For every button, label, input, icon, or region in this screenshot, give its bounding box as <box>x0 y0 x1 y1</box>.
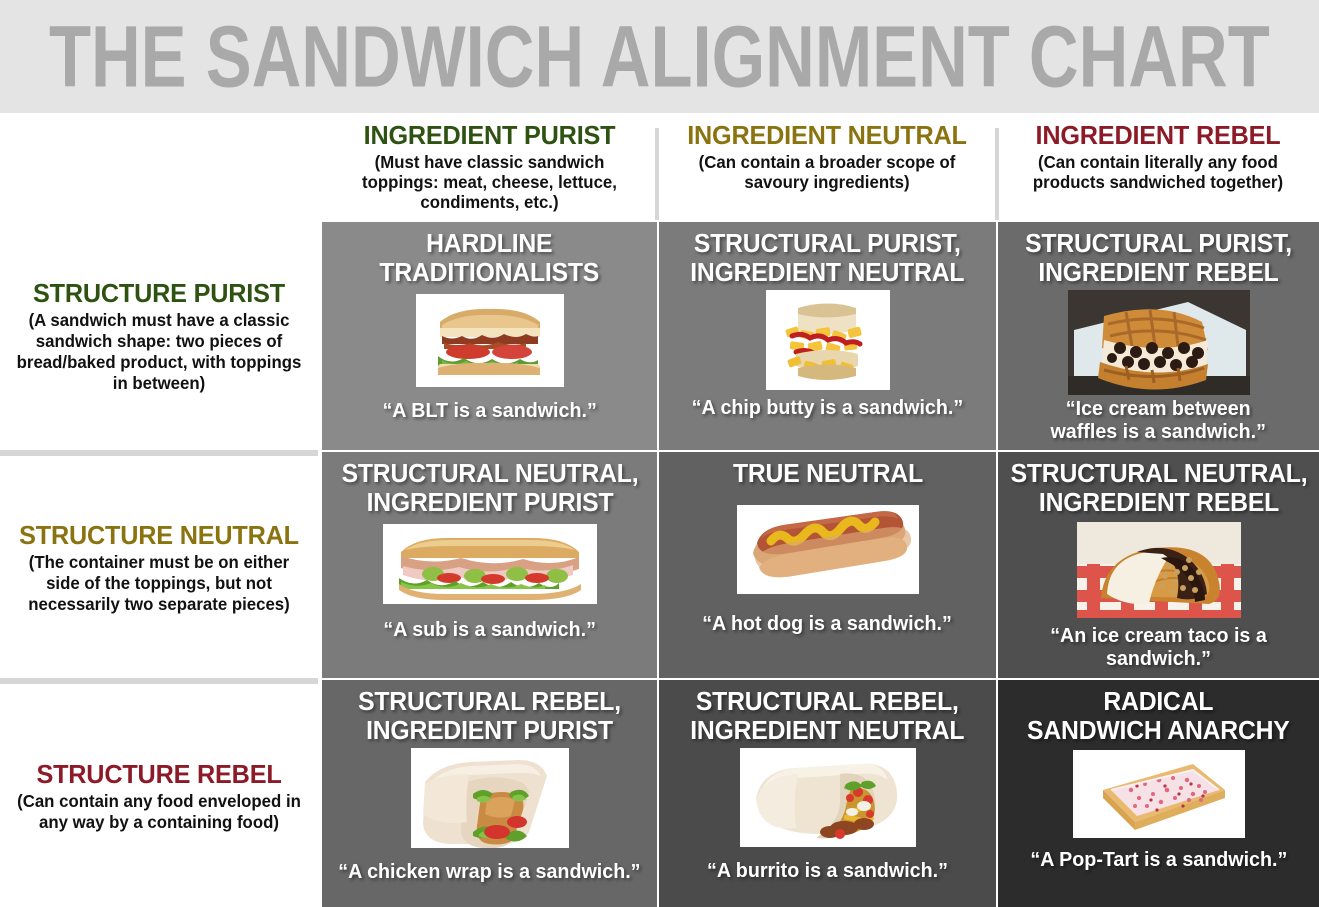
cell-quote: “Ice cream between waffles is a sandwich… <box>1051 397 1266 443</box>
row-header-structure-neutral: STRUCTURE NEUTRAL (The container must be… <box>0 456 318 678</box>
cell-title: STRUCTURAL REBEL, INGREDIENT PURIST <box>358 688 621 746</box>
waffle-ice-cream-sandwich-photo <box>1068 290 1250 395</box>
cell-title: STRUCTURAL NEUTRAL, INGREDIENT PURIST <box>341 460 638 518</box>
alignment-grid: HARDLINE TRADITIONALISTS “A BL <box>322 222 1319 907</box>
column-header-title: INGREDIENT PURIST <box>333 120 646 150</box>
row-header-title: STRUCTURE NEUTRAL <box>13 520 306 550</box>
row-header-subtitle: (The container must be on either side of… <box>14 552 304 615</box>
cell-title: HARDLINE TRADITIONALISTS <box>380 230 600 288</box>
row-header-title: STRUCTURE REBEL <box>13 759 306 789</box>
cell-title: STRUCTURAL PURIST, INGREDIENT NEUTRAL <box>690 230 964 288</box>
submarine-sandwich-photo <box>383 524 597 604</box>
column-headers: INGREDIENT PURIST (Must have classic san… <box>322 120 1319 220</box>
column-header-subtitle: (Can contain a broader scope of savoury … <box>670 152 985 192</box>
cell-title: TRUE NEUTRAL <box>732 460 922 489</box>
cell-neutral-neutral[interactable]: TRUE NEUTRAL “A hot dog is a sandwich.” <box>659 452 996 678</box>
cell-quote: “An ice cream taco is a sandwich.” <box>1004 624 1312 670</box>
row-header-subtitle: (A sandwich must have a classic sandwich… <box>14 310 304 394</box>
cell-quote: “A chip butty is a sandwich.” <box>692 396 964 419</box>
cell-quote: “A sub is a sandwich.” <box>383 618 596 641</box>
cell-purist-rebel[interactable]: STRUCTURAL PURIST, INGREDIENT REBEL <box>998 222 1319 450</box>
cell-title: STRUCTURAL REBEL, INGREDIENT NEUTRAL <box>690 688 964 746</box>
cell-title: STRUCTURAL NEUTRAL, INGREDIENT REBEL <box>1010 460 1307 518</box>
cell-rebel-purist[interactable]: STRUCTURAL REBEL, INGREDIENT PURIST <box>322 680 657 907</box>
cell-purist-neutral[interactable]: STRUCTURAL PURIST, INGREDIENT NEUTRAL <box>659 222 996 450</box>
column-header-subtitle: (Can contain literally any food products… <box>1009 152 1307 192</box>
burrito-photo <box>740 748 916 847</box>
column-header-title: INGREDIENT NEUTRAL <box>668 120 986 150</box>
hot-dog-photo <box>737 505 919 594</box>
column-header-ingredient-neutral: INGREDIENT NEUTRAL (Can contain a broade… <box>657 120 997 220</box>
chicken-wrap-photo <box>411 748 569 848</box>
column-header-ingredient-rebel: INGREDIENT REBEL (Can contain literally … <box>997 120 1319 220</box>
pop-tart-photo <box>1073 750 1245 838</box>
row-header-subtitle: (Can contain any food enveloped in any w… <box>14 791 304 833</box>
cell-neutral-purist[interactable]: STRUCTURAL NEUTRAL, INGREDIENT PURIST <box>322 452 657 678</box>
cell-quote: “A chicken wrap is a sandwich.” <box>338 860 640 883</box>
cell-quote: “A Pop-Tart is a sandwich.” <box>1030 848 1287 871</box>
column-divider-1 <box>655 128 659 220</box>
cell-rebel-neutral[interactable]: STRUCTURAL REBEL, INGREDIENT NEUTRAL <box>659 680 996 907</box>
cell-quote: “A burrito is a sandwich.” <box>707 859 948 882</box>
column-header-ingredient-purist: INGREDIENT PURIST (Must have classic san… <box>322 120 657 220</box>
cell-quote: “A BLT is a sandwich.” <box>382 399 596 422</box>
ice-cream-taco-photo <box>1077 522 1241 618</box>
cell-rebel-rebel[interactable]: RADICAL SANDWICH ANARCHY <box>998 680 1319 907</box>
row-header-structure-rebel: STRUCTURE REBEL (Can contain any food en… <box>0 684 318 907</box>
cell-quote: “A hot dog is a sandwich.” <box>703 612 953 635</box>
title-banner: THE SANDWICH ALIGNMENT CHART <box>0 0 1319 113</box>
blt-sandwich-photo <box>416 294 564 387</box>
chip-butty-photo <box>766 290 890 390</box>
page-title: THE SANDWICH ALIGNMENT CHART <box>49 13 1270 100</box>
column-divider-2 <box>995 128 999 220</box>
row-header-title: STRUCTURE PURIST <box>13 278 306 308</box>
cell-title: RADICAL SANDWICH ANARCHY <box>1027 688 1290 746</box>
column-header-subtitle: (Must have classic sandwich toppings: me… <box>334 152 644 212</box>
column-header-title: INGREDIENT REBEL <box>1008 120 1309 150</box>
row-header-structure-purist: STRUCTURE PURIST (A sandwich must have a… <box>0 222 318 450</box>
cell-purist-purist[interactable]: HARDLINE TRADITIONALISTS “A BL <box>322 222 657 450</box>
cell-neutral-rebel[interactable]: STRUCTURAL NEUTRAL, INGREDIENT REBEL <box>998 452 1319 678</box>
alignment-chart-page: THE SANDWICH ALIGNMENT CHART INGREDIENT … <box>0 0 1319 907</box>
cell-title: STRUCTURAL PURIST, INGREDIENT REBEL <box>1025 230 1292 288</box>
